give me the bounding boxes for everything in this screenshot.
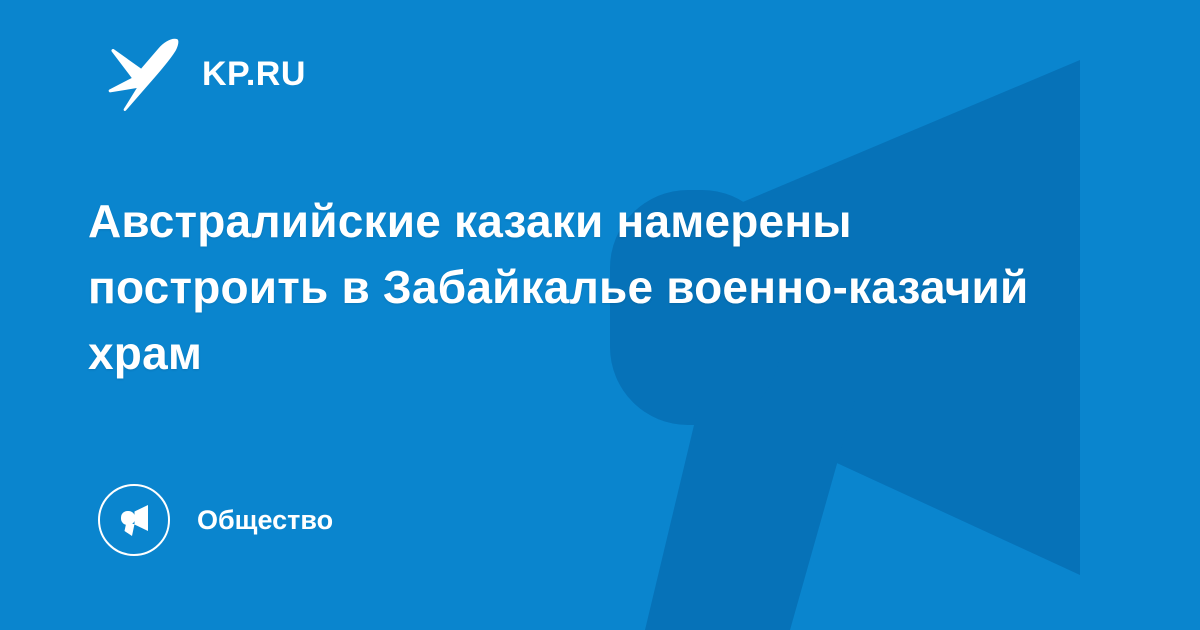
article-share-card: KP.RU Австралийские казаки намерены пост… <box>0 0 1200 630</box>
site-logo[interactable]: KP.RU <box>108 36 306 112</box>
megaphone-icon <box>115 501 153 539</box>
page-title: Австралийские казаки намерены построить … <box>88 188 1088 386</box>
swallow-bird-icon <box>108 36 180 112</box>
category-tag[interactable]: Общество <box>98 484 333 556</box>
category-badge <box>98 484 170 556</box>
logo-wordmark: KP.RU <box>202 57 306 91</box>
category-label: Общество <box>197 507 333 534</box>
